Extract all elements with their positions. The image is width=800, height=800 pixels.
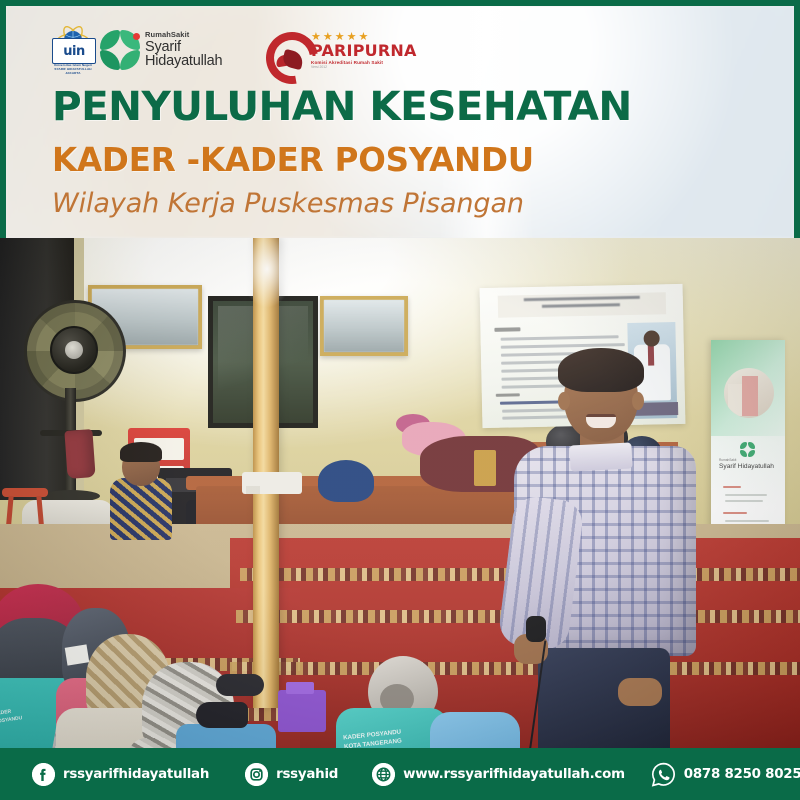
banner-logo: RumahSakit Syarif Hidayatullah bbox=[719, 432, 777, 456]
purple-bag bbox=[278, 690, 326, 732]
rs-logo-line2: Syarif Hidayatullah bbox=[145, 40, 248, 69]
footer-instagram[interactable]: rssyahid bbox=[245, 763, 338, 786]
footer-whatsapp[interactable]: 0878 8250 8025 bbox=[651, 762, 800, 787]
globe-icon bbox=[372, 763, 395, 786]
paripurna-name: PARIPURNA bbox=[311, 43, 417, 60]
uin-shield: uin bbox=[52, 38, 96, 64]
instagram-handle: rssyahid bbox=[276, 767, 338, 782]
paripurna-subtitle2: Versi 2012 bbox=[311, 66, 417, 69]
footer-facebook[interactable]: rssyarifhidayatullah bbox=[32, 763, 209, 786]
logo-row: uin Universitas Islam Negeri SYARIF HIDA… bbox=[48, 26, 399, 74]
rs-logo-line1: RumahSakit bbox=[145, 31, 248, 39]
uin-logo: uin Universitas Islam Negeri SYARIF HIDA… bbox=[48, 26, 98, 74]
pinwheel-cross-icon bbox=[98, 28, 142, 72]
whatsapp-number: 0878 8250 8025 bbox=[684, 767, 800, 782]
poster-header: uin Universitas Islam Negeri SYARIF HIDA… bbox=[6, 6, 794, 238]
poster-title-line1: PENYULUHAN KESEHATAN bbox=[52, 86, 632, 127]
rumah-sakit-logo: RumahSakit Syarif Hidayatullah bbox=[98, 26, 248, 74]
speaker-person bbox=[500, 348, 710, 748]
uin-wordmark: uin bbox=[63, 45, 84, 58]
cardboard-box bbox=[474, 450, 496, 486]
facebook-handle: rssyarifhidayatullah bbox=[63, 767, 209, 782]
attendee-6-body bbox=[430, 712, 520, 748]
blue-helmet bbox=[318, 460, 374, 502]
contact-footer: rssyarifhidayatullah rssyahid www.rssyar… bbox=[0, 748, 800, 800]
whatsapp-icon bbox=[651, 762, 676, 787]
event-photo: RumahSakit Syarif Hidayatullah bbox=[0, 238, 800, 748]
poster-title-line2: KADER -KADER POSYANDU bbox=[52, 144, 534, 177]
background-attendee bbox=[110, 478, 172, 540]
red-dot-icon bbox=[133, 33, 140, 40]
banner-line1: RumahSakit bbox=[719, 458, 777, 462]
shoe-2 bbox=[216, 674, 264, 696]
uin-subtitle: Universitas Islam Negeri SYARIF HIDAYATU… bbox=[48, 63, 98, 76]
website-url: www.rssyarifhidayatullah.com bbox=[403, 767, 625, 782]
projector bbox=[242, 472, 302, 494]
poster-root: uin Universitas Islam Negeri SYARIF HIDA… bbox=[0, 0, 800, 800]
microphone bbox=[526, 616, 546, 642]
facebook-icon bbox=[32, 763, 55, 786]
footer-website[interactable]: www.rssyarifhidayatullah.com bbox=[372, 763, 625, 786]
uin-subtitle-2: SYARIF HIDAYATULLAH JAKARTA bbox=[48, 67, 98, 75]
paripurna-q-icon bbox=[264, 29, 310, 73]
banner-line2: Syarif Hidayatullah bbox=[719, 463, 777, 470]
poster-subtitle: Wilayah Kerja Puskesmas Pisangan bbox=[52, 190, 524, 217]
instagram-icon bbox=[245, 763, 268, 786]
attendee-2-paper bbox=[65, 644, 90, 665]
paripurna-logo: ★★★★★ PARIPURNA Komisi Akreditasi Rumah … bbox=[264, 28, 399, 74]
hanging-bag bbox=[64, 429, 95, 479]
wall-picture-frame-2 bbox=[320, 296, 408, 356]
banner-building-photo bbox=[724, 368, 774, 418]
shoe-1 bbox=[196, 702, 248, 728]
